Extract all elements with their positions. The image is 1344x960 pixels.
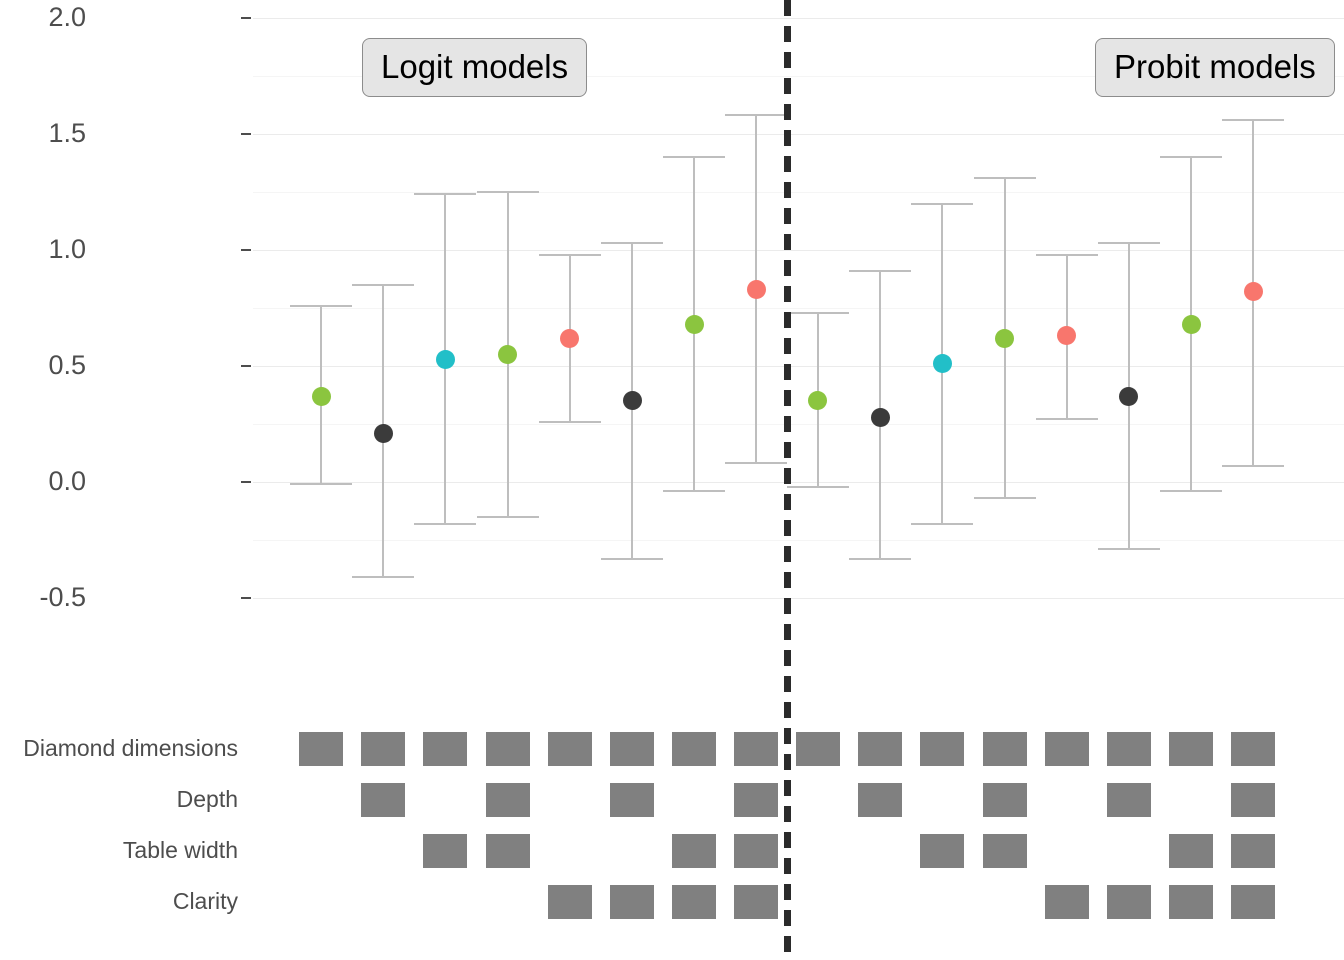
error-bar-cap-lower [1160,490,1222,492]
estimate-point [623,391,642,410]
spec-matrix-cell [734,885,778,919]
spec-matrix-cell [1045,885,1089,919]
spec-matrix-cell [796,732,840,766]
spec-matrix-cell [734,732,778,766]
spec-matrix-cell [548,885,592,919]
spec-matrix-cell [1231,885,1275,919]
spec-matrix-cell [1231,783,1275,817]
error-bar-cap-lower [352,576,414,578]
gridline-major [253,134,1344,135]
y-axis-tick-label: 1.0 [48,236,86,263]
spec-matrix-cell [1169,885,1213,919]
error-bar-cap-upper [1222,119,1284,121]
spec-row-label: Diamond dimensions [23,737,238,760]
estimate-point [1182,315,1201,334]
error-bar-cap-lower [1036,418,1098,420]
estimate-point [1244,282,1263,301]
coefficient-panel: 2.01.51.00.50.0-0.5Logit modelsProbit mo… [0,0,1344,660]
spec-matrix-cell [672,732,716,766]
spec-matrix-cell [610,732,654,766]
error-bar-cap-upper [787,312,849,314]
estimate-point [871,408,890,427]
spec-row-label: Table width [123,839,238,862]
error-bar-cap-upper [849,270,911,272]
gridline-minor [253,540,1344,541]
spec-matrix-cell [672,885,716,919]
estimate-point [498,345,517,364]
panel-strip-label: Logit models [362,38,587,97]
error-bar-cap-lower [974,497,1036,499]
error-bar-cap-upper [1036,254,1098,256]
spec-matrix-cell [299,732,343,766]
error-bar-cap-upper [1098,242,1160,244]
spec-matrix-cell [1231,834,1275,868]
y-axis-tick-label: 0.0 [48,468,86,495]
spec-matrix-cell [548,732,592,766]
spec-matrix-cell [361,732,405,766]
error-bar-cap-upper [663,156,725,158]
spec-matrix-cell [672,834,716,868]
estimate-point [808,391,827,410]
error-bar-cap-lower [477,516,539,518]
error-bar-cap-upper [725,114,787,116]
error-bar-cap-lower [414,523,476,525]
y-axis-tick-label: 0.5 [48,352,86,379]
spec-matrix-cell [486,834,530,868]
spec-matrix-cell [734,783,778,817]
spec-matrix-cell [983,834,1027,868]
gridline-minor [253,424,1344,425]
spec-matrix-cell [983,732,1027,766]
error-bar-cap-upper [477,191,539,193]
spec-matrix-cell [1231,732,1275,766]
y-axis-tick-mark [241,17,251,19]
estimate-point [685,315,704,334]
spec-matrix-cell [1169,834,1213,868]
spec-matrix-cell [486,732,530,766]
estimate-point [1057,326,1076,345]
error-bar-cap-lower [911,523,973,525]
y-axis-tick-mark [241,597,251,599]
spec-matrix-cell [1169,732,1213,766]
spec-matrix-cell [983,783,1027,817]
spec-matrix-cell [423,732,467,766]
spec-matrix-cell [1045,732,1089,766]
gridline-major [253,598,1344,599]
error-bar-cap-upper [352,284,414,286]
error-bar-cap-lower [1222,465,1284,467]
spec-matrix-cell [734,834,778,868]
error-bar-cap-lower [663,490,725,492]
y-axis-tick-mark [241,481,251,483]
panel-divider-dashed-line [784,0,791,960]
y-axis-tick-label: 1.5 [48,120,86,147]
gridline-major [253,250,1344,251]
gridline-major [253,18,1344,19]
gridline-major [253,482,1344,483]
spec-matrix-cell [610,885,654,919]
error-bar-cap-lower [787,486,849,488]
spec-matrix-cell [1107,732,1151,766]
panel-strip-label: Probit models [1095,38,1335,97]
estimate-point [1119,387,1138,406]
error-bar-cap-upper [601,242,663,244]
y-axis-tick-label: -0.5 [39,584,86,611]
spec-row-label: Clarity [173,890,238,913]
estimate-point [560,329,579,348]
error-bar-cap-upper [414,193,476,195]
estimate-point [747,280,766,299]
spec-matrix-cell [486,783,530,817]
spec-matrix-cell [920,732,964,766]
error-bar-cap-lower [725,462,787,464]
estimate-point [374,424,393,443]
error-bar-cap-upper [1160,156,1222,158]
specification-matrix-panel: Diamond dimensionsDepthTable widthClarit… [0,660,1344,960]
error-bar-cap-upper [974,177,1036,179]
error-bar-cap-lower [849,558,911,560]
error-bar-cap-upper [911,203,973,205]
gridline-minor [253,308,1344,309]
estimate-point [312,387,331,406]
spec-matrix-cell [1107,783,1151,817]
spec-matrix-cell [858,732,902,766]
y-axis-tick-mark [241,249,251,251]
spec-matrix-cell [920,834,964,868]
error-bar-cap-lower [539,421,601,423]
estimate-point [436,350,455,369]
estimate-point [995,329,1014,348]
spec-matrix-cell [423,834,467,868]
spec-matrix-cell [610,783,654,817]
y-axis-tick-mark [241,365,251,367]
error-bar-cap-upper [539,254,601,256]
specification-curve-figure: 2.01.51.00.50.0-0.5Logit modelsProbit mo… [0,0,1344,960]
spec-matrix-cell [361,783,405,817]
y-axis-tick-mark [241,133,251,135]
error-bar-cap-lower [290,483,352,485]
spec-matrix-cell [1107,885,1151,919]
gridline-major [253,366,1344,367]
error-bar-cap-lower [1098,548,1160,550]
estimate-point [933,354,952,373]
spec-matrix-cell [858,783,902,817]
error-bar-cap-lower [601,558,663,560]
y-axis-tick-label: 2.0 [48,4,86,31]
error-bar-cap-upper [290,305,352,307]
spec-row-label: Depth [177,788,238,811]
